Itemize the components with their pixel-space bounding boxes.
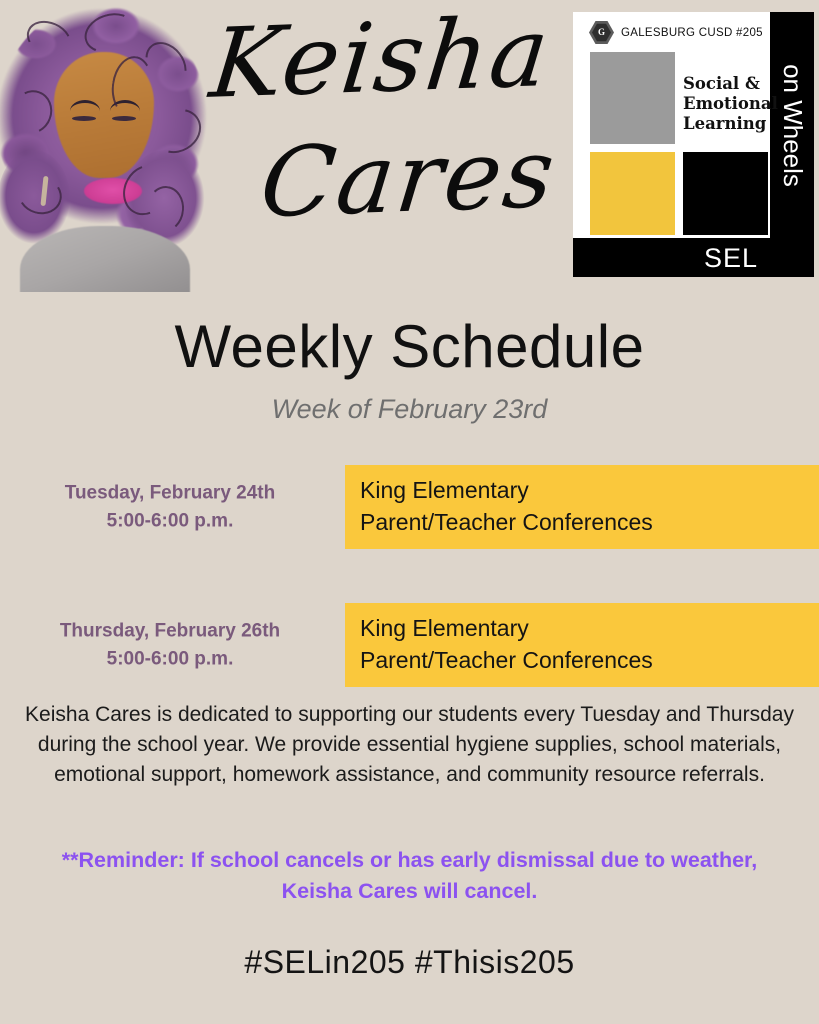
schedule-when: Thursday, February 26th 5:00-6:00 p.m. xyxy=(0,617,340,672)
brand-script-title: Keisha Cares xyxy=(190,0,590,286)
schedule-event: Parent/Teacher Conferences xyxy=(360,645,819,677)
program-description: Keisha Cares is dedicated to supporting … xyxy=(24,700,795,789)
hashtags: #SELin205 #Thisis205 xyxy=(0,944,819,981)
poster-canvas: Keisha Cares on Wheels SEL G GALESBURG C… xyxy=(0,0,819,1024)
schedule-event: Parent/Teacher Conferences xyxy=(360,507,819,539)
logo-swatch-yellow xyxy=(590,152,675,235)
schedule-event-card: King Elementary Parent/Teacher Conferenc… xyxy=(345,603,819,687)
logo-sel-abbreviation: SEL xyxy=(704,243,758,274)
logo-district-header: G GALESBURG CUSD #205 xyxy=(589,20,763,45)
keisha-avatar-illustration xyxy=(0,0,214,292)
weather-reminder: **Reminder: If school cancels or has ear… xyxy=(40,845,779,907)
schedule-when: Tuesday, February 24th 5:00-6:00 p.m. xyxy=(0,479,340,534)
logo-program-name: Social & Emotional Learning xyxy=(683,74,778,134)
schedule-day: Tuesday, February 24th xyxy=(0,479,340,507)
schedule-time: 5:00-6:00 p.m. xyxy=(0,645,340,673)
sel-on-wheels-logo: on Wheels SEL G GALESBURG CUSD #205 Soci… xyxy=(573,12,814,277)
page-title: Weekly Schedule xyxy=(0,312,819,381)
brand-script-line-2: Cares xyxy=(255,117,561,239)
schedule-day: Thursday, February 26th xyxy=(0,617,340,645)
page-subtitle: Week of February 23rd xyxy=(0,394,819,425)
shield-letter: G xyxy=(598,28,605,37)
logo-swatch-black xyxy=(683,152,768,235)
logo-tagline-text: on Wheels xyxy=(777,64,808,187)
schedule-time: 5:00-6:00 p.m. xyxy=(0,507,340,535)
schedule-row: Thursday, February 26th 5:00-6:00 p.m. K… xyxy=(0,603,819,687)
galesburg-shield-icon: G xyxy=(589,20,614,45)
brand-script-line-1: Keisha xyxy=(205,0,555,120)
logo-on-wheels-rotated: on Wheels xyxy=(772,12,812,238)
logo-district-text: GALESBURG CUSD #205 xyxy=(621,27,763,39)
logo-swatch-gray xyxy=(590,52,675,144)
logo-bottom-bar xyxy=(573,238,814,277)
schedule-location: King Elementary xyxy=(360,475,819,507)
avatar-eye-left xyxy=(72,116,96,121)
schedule-row: Tuesday, February 24th 5:00-6:00 p.m. Ki… xyxy=(0,465,819,549)
schedule-location: King Elementary xyxy=(360,613,819,645)
schedule-event-card: King Elementary Parent/Teacher Conferenc… xyxy=(345,465,819,549)
avatar-eye-right xyxy=(112,116,136,121)
